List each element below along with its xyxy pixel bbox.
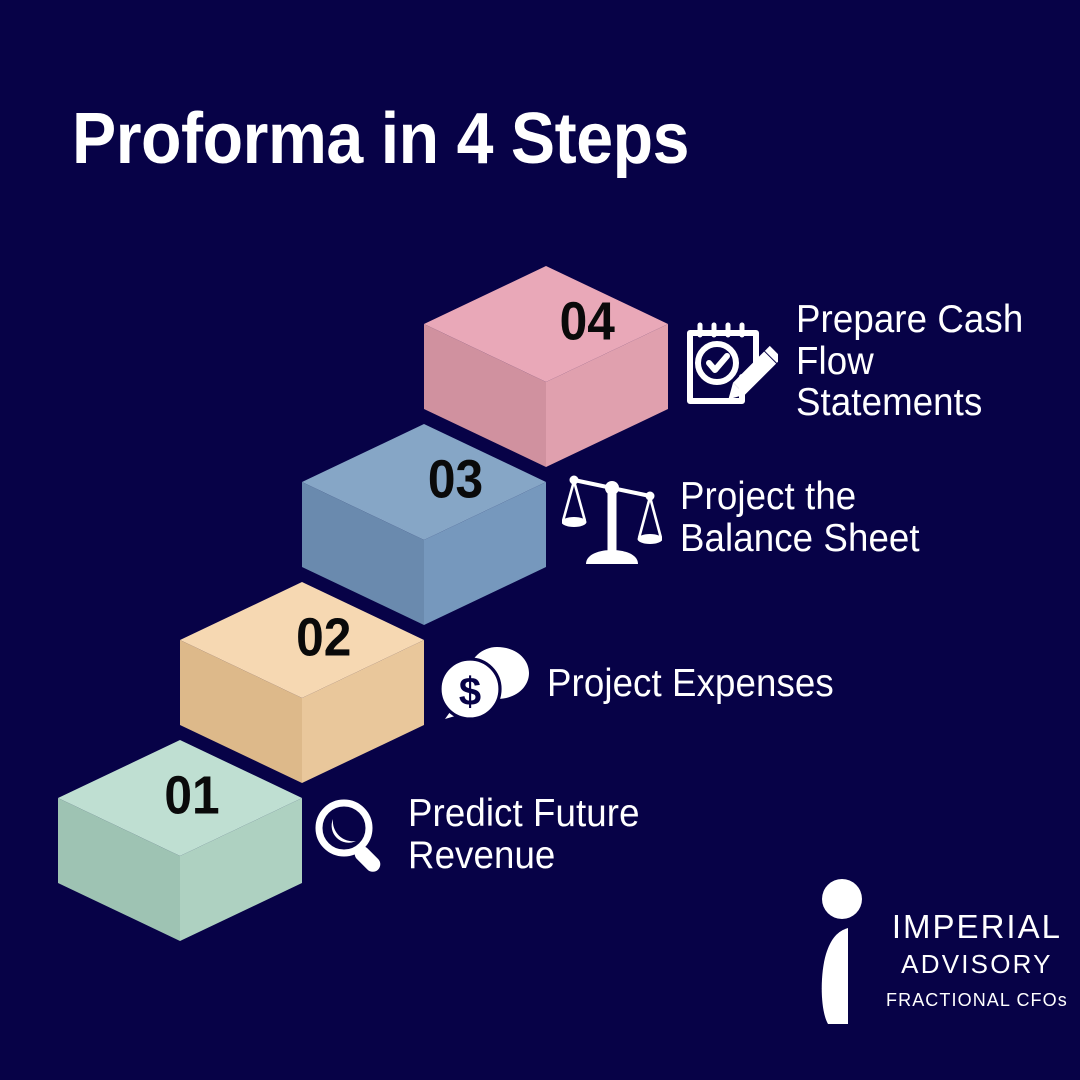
cube-step-04[interactable]: 04 — [424, 266, 668, 467]
infographic-canvas: Proforma in 4 Steps 01 02 03 — [0, 0, 1080, 1080]
cube-step-03[interactable]: 03 — [302, 424, 546, 625]
step-03-label: Project the Balance Sheet — [680, 476, 920, 559]
cube-04-number: 04 — [560, 290, 615, 350]
magnifying-glass-icon — [308, 794, 390, 876]
cube-03-number: 03 — [428, 448, 483, 508]
logo-subtitle: ADVISORY — [886, 947, 1068, 982]
cube-01-number: 01 — [164, 764, 219, 824]
cube-step-01[interactable]: 01 — [58, 740, 302, 941]
logo-text-block: IMPERIAL ADVISORY FRACTIONAL CFOs — [886, 878, 1068, 1011]
balance-scale-icon — [562, 468, 662, 568]
brand-logo[interactable]: IMPERIAL ADVISORY FRACTIONAL CFOs — [812, 878, 1068, 1026]
dollar-speech-bubble-icon: $ — [437, 645, 529, 723]
svg-text:$: $ — [459, 670, 481, 714]
step-02-label: Project Expenses — [547, 663, 834, 705]
cube-step-02[interactable]: 02 — [180, 582, 424, 783]
step-row-03[interactable]: Project the Balance Sheet — [562, 468, 935, 568]
logo-name: IMPERIAL — [886, 910, 1068, 945]
step-row-04[interactable]: Prepare Cash Flow Statements — [684, 299, 1080, 424]
cube-02-number: 02 — [296, 606, 351, 666]
step-row-02[interactable]: $ Project Expenses — [437, 645, 852, 723]
notepad-check-pencil-icon — [684, 315, 778, 409]
step-04-label: Prepare Cash Flow Statements — [796, 299, 1063, 424]
imperial-person-i-icon — [812, 878, 870, 1026]
step-01-label: Predict Future Revenue — [408, 793, 640, 876]
step-row-01[interactable]: Predict Future Revenue — [308, 793, 654, 876]
logo-tagline: FRACTIONAL CFOs — [886, 990, 1068, 1011]
